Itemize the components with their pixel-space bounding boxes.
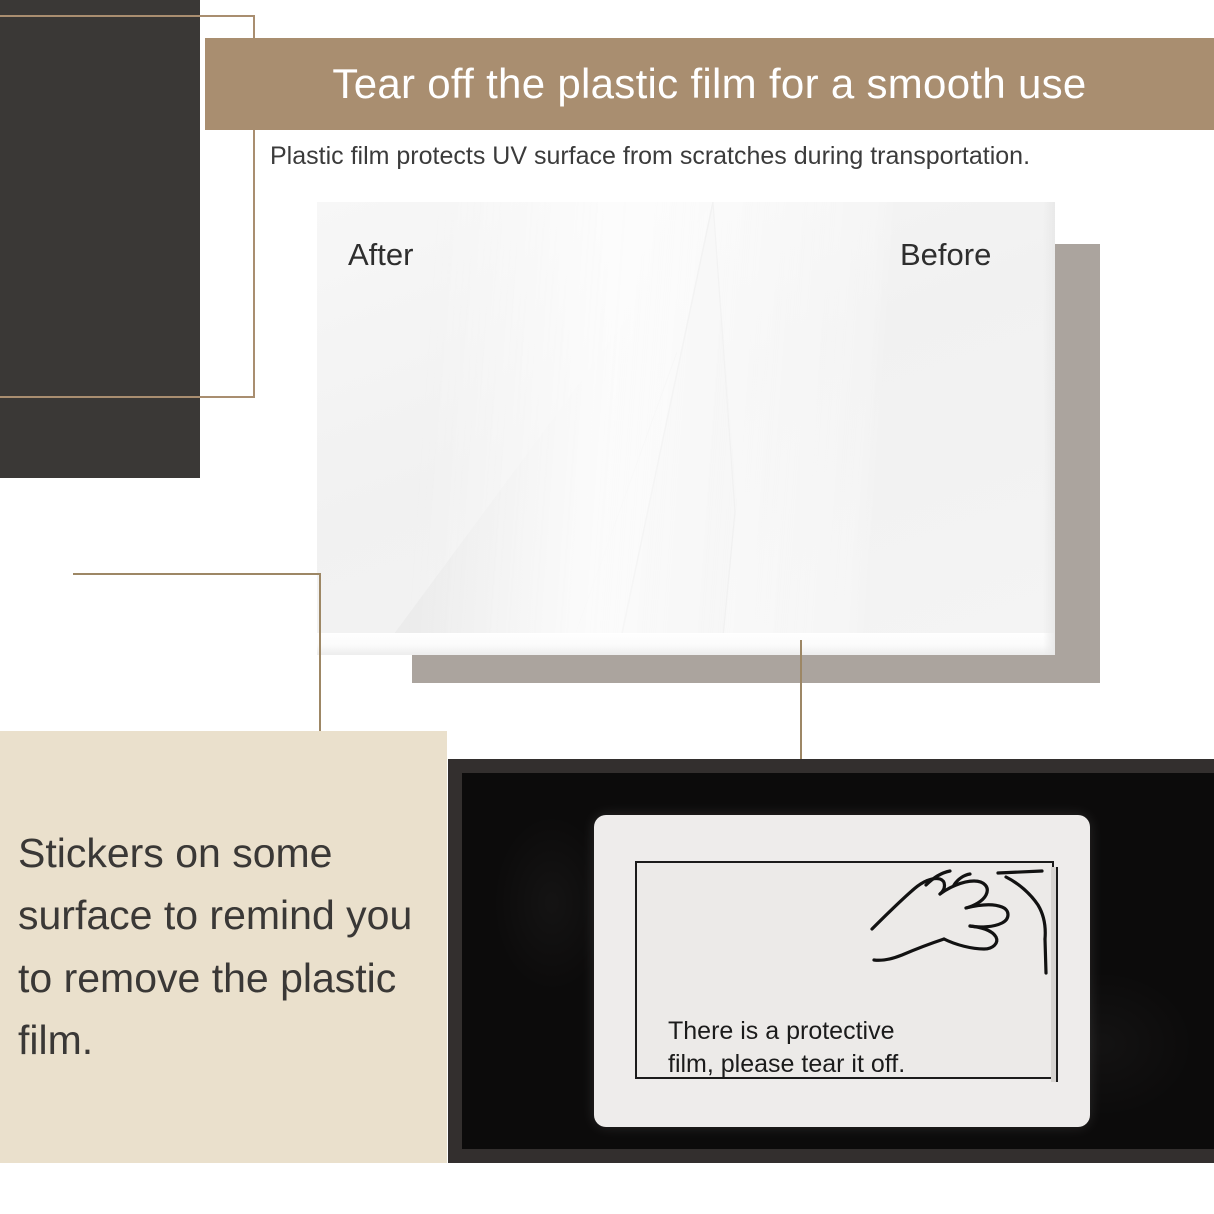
panel-bottom-edge — [317, 633, 1055, 655]
connector-line-horizontal — [73, 573, 321, 575]
sticker-photo-background: There is a protective film, please tear … — [462, 773, 1214, 1149]
sticker-message: There is a protective film, please tear … — [668, 1015, 998, 1082]
sticker-inner-frame: There is a protective film, please tear … — [635, 861, 1054, 1079]
label-after: After — [348, 237, 413, 273]
connector-line-vertical — [319, 573, 321, 732]
header-banner: Tear off the plastic film for a smooth u… — [205, 38, 1214, 130]
callout-text: Stickers on some surface to remind you t… — [18, 822, 438, 1071]
hand-peeling-film-icon — [866, 861, 1056, 981]
sticker-message-line-2: film, please tear it off. — [668, 1048, 998, 1081]
label-before: Before — [900, 237, 991, 273]
page-title: Tear off the plastic film for a smooth u… — [332, 63, 1086, 105]
product-infographic: Tear off the plastic film for a smooth u… — [0, 0, 1214, 1214]
sticker-message-line-1: There is a protective — [668, 1015, 998, 1048]
glass-reflection — [411, 202, 889, 655]
warning-sticker: There is a protective film, please tear … — [594, 815, 1090, 1127]
panel-right-band — [1043, 202, 1055, 655]
sticker-photo: There is a protective film, please tear … — [448, 759, 1214, 1163]
page-subtitle: Plastic film protects UV surface from sc… — [270, 142, 1030, 171]
connector-line-drop — [800, 640, 802, 762]
